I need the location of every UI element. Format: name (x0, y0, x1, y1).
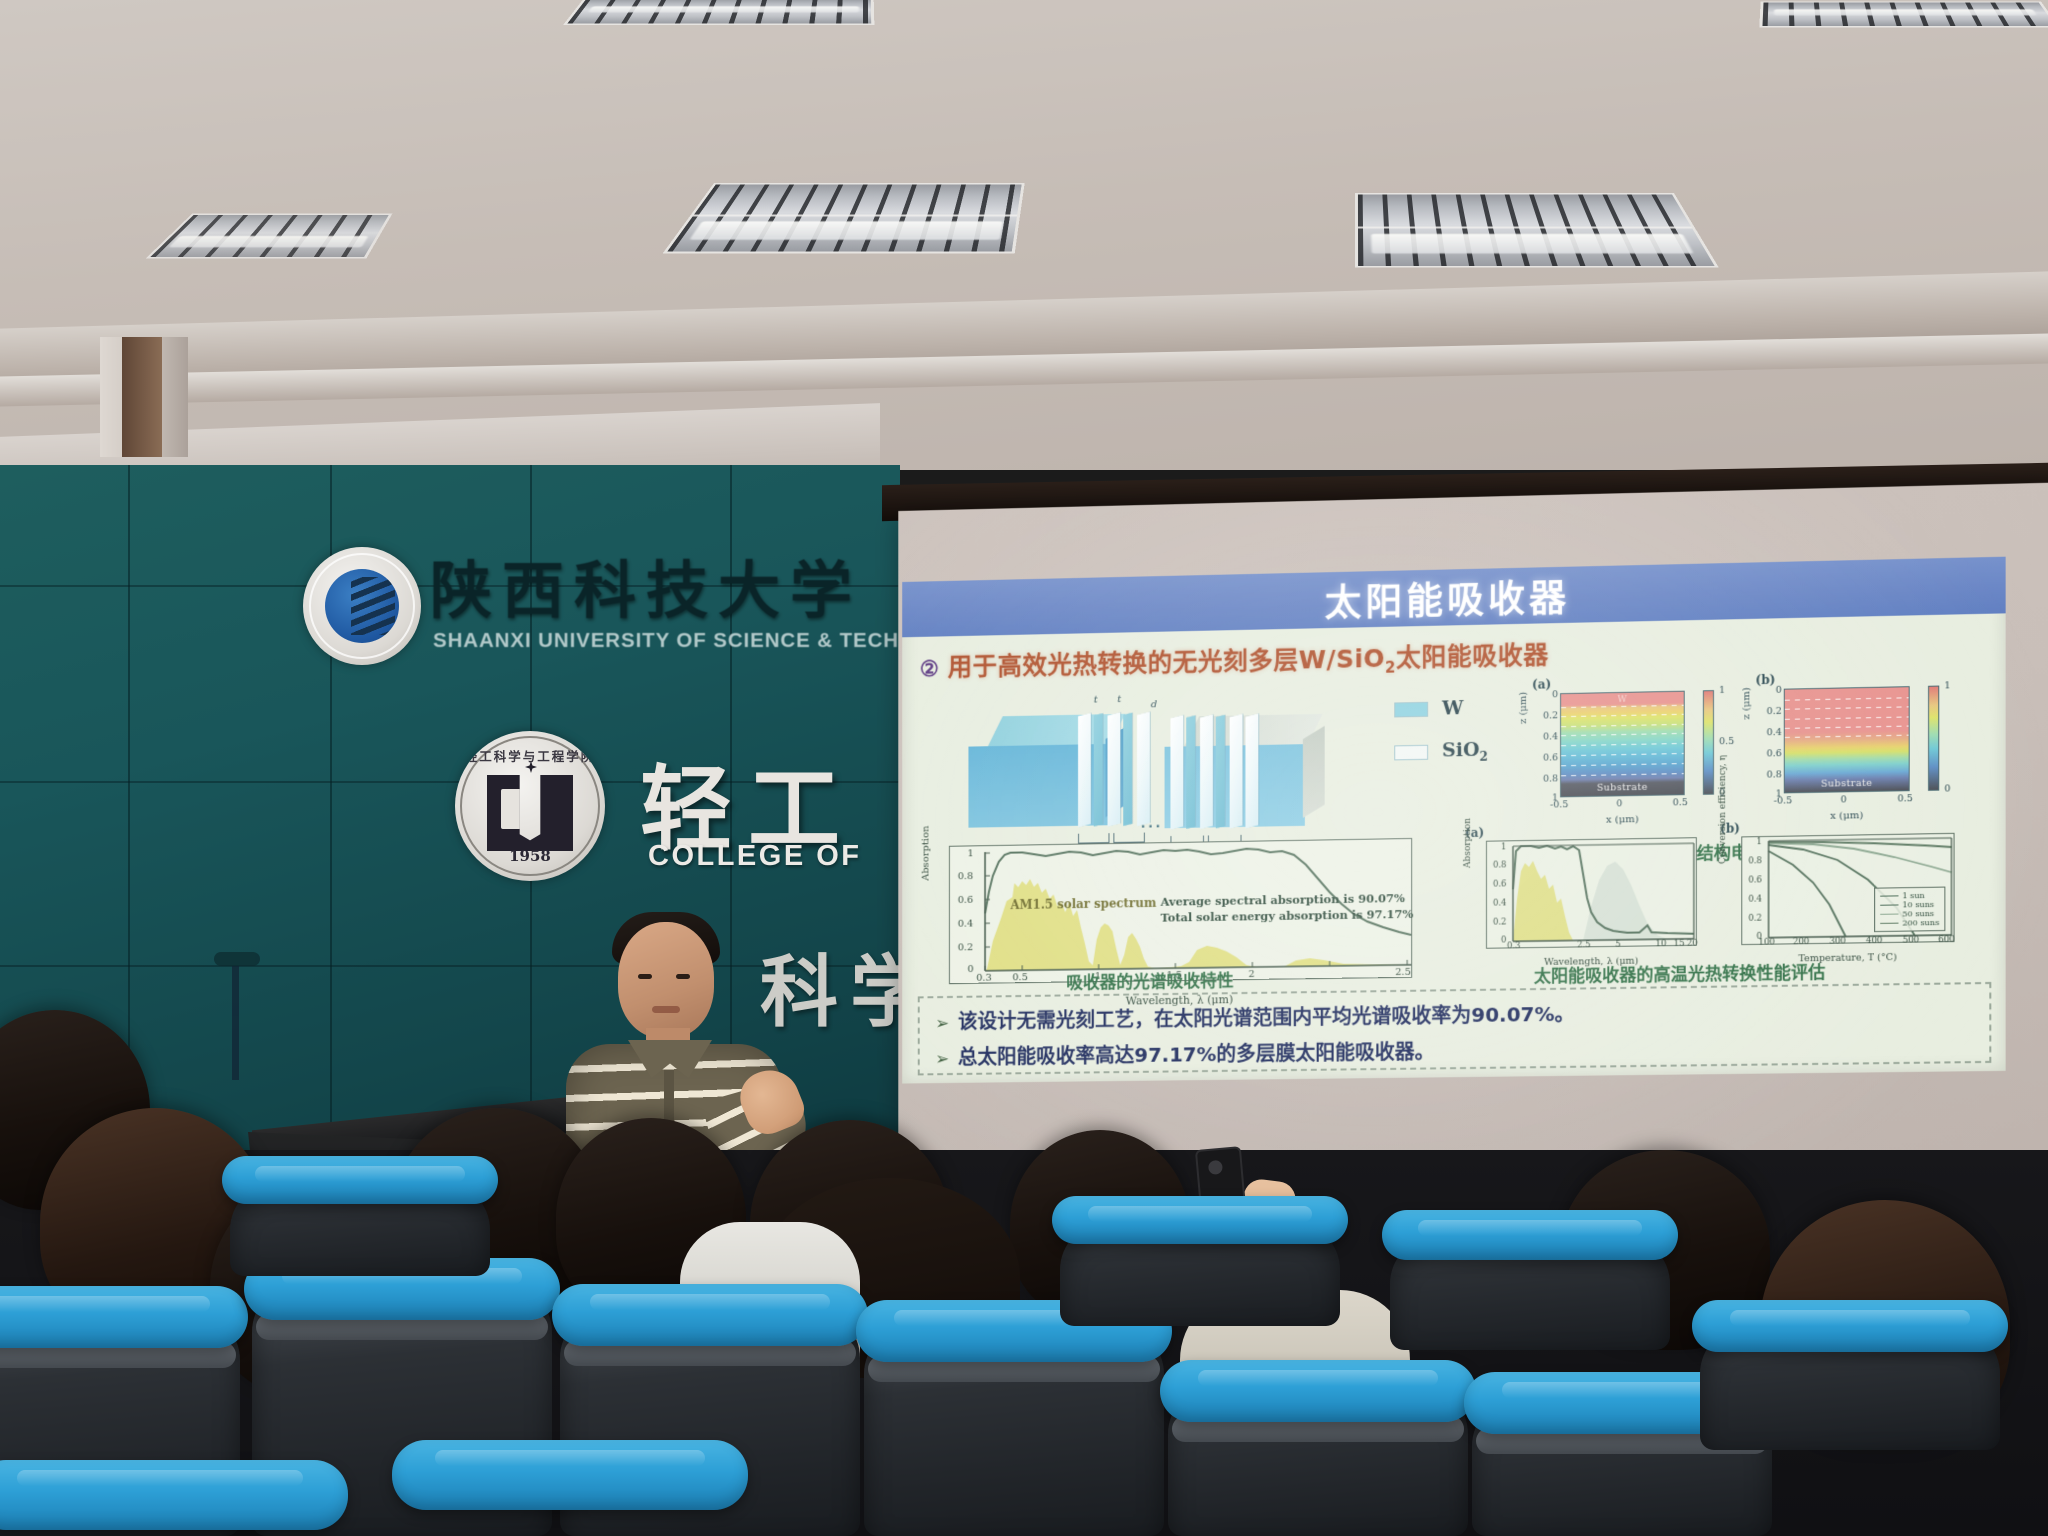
structure-label-d: d (1151, 699, 1157, 710)
broadband-ytick: 0.8 (1493, 860, 1507, 870)
ceiling-light-fixture-icon (663, 183, 1025, 253)
wall-column (100, 337, 188, 457)
heatmap-a-xtick: -0.5 (1550, 799, 1568, 810)
colorbar-max: 1 (1944, 680, 1950, 691)
absorption-spectrum-chart: Absorption 1 0.8 0.6 0.4 0.2 0 0.3 0.5 1… (949, 838, 1412, 984)
caption-performance-eval: 太阳能吸收器的高温光热转换性能评估 (1534, 958, 1825, 987)
auditorium-seat[interactable] (400, 1440, 740, 1536)
legend-label: 200 suns (1902, 918, 1939, 928)
heatmap-b-colorbar: 1 0 (1928, 686, 1939, 791)
legend-label: 1 sun (1902, 891, 1924, 900)
college-name-en: COLLEGE OF (648, 840, 862, 873)
conclusion-box: ➢ 该设计无需光刻工艺，在太阳光谱范围内平均光谱吸收率为90.07%。 ➢ 总太… (918, 982, 1992, 1075)
absorption-chart-ytick: 0 (967, 964, 973, 975)
material-legend: W SiO2 (1394, 697, 1488, 786)
conclusion-bullet-2: ➢ 总太阳能吸收率高达97.17%的多层膜太阳能吸收器。 (935, 1035, 1434, 1070)
broadband-ytick: 0.2 (1493, 917, 1507, 927)
efficiency-xtick: 600 (1938, 935, 1955, 945)
absorption-chart-xtick: 0.3 (976, 973, 992, 984)
broadband-ytick: 0.6 (1493, 879, 1507, 889)
structure-label-t1: t (1094, 695, 1098, 706)
auditorium-seat[interactable] (864, 1300, 1164, 1536)
heatmap-b-ylabel: z (μm) (1741, 687, 1752, 720)
heatmap-b-ytick: 0 (1759, 685, 1781, 697)
absorption-chart-xtick: 2 (1248, 969, 1254, 980)
colorbar-min: 0 (1944, 783, 1950, 794)
legend-label-w: W (1442, 697, 1463, 719)
heatmap-b-ytick: 0.6 (1759, 748, 1781, 759)
auditorium-seat[interactable] (230, 1156, 490, 1276)
auditorium-seat[interactable] (1168, 1360, 1468, 1536)
auditorium-seat[interactable] (1390, 1210, 1670, 1350)
absorption-chart-ylabel: Absorption (921, 826, 932, 881)
efficiency-xtick: 400 (1866, 936, 1883, 946)
am15-annotation: AM1.5 solar spectrum (1010, 895, 1156, 913)
heatmap-b-xtick: 0 (1841, 794, 1847, 805)
ceiling-light-fixture-icon (563, 0, 874, 25)
heatmap-a-ytick: 0.6 (1536, 752, 1558, 763)
broadband-ytick: 0.4 (1493, 898, 1507, 908)
conclusion-text-2: 总太阳能吸收率高达97.17%的多层膜太阳能吸收器。 (958, 1035, 1435, 1070)
heatmap-b-xlabel: x (μm) (1784, 809, 1910, 822)
heatmap-b-ytick: 0.4 (1759, 727, 1781, 739)
structure-label-t2: t (1117, 694, 1121, 705)
efficiency-xtick: 300 (1829, 937, 1845, 947)
legend-label-sio2-sub: 2 (1479, 749, 1487, 763)
broadband-xtick: 0.3 (1507, 941, 1521, 951)
college-seal-label: 轻工科学与工程学院 (455, 746, 605, 765)
absorption-chart-ytick: 0.4 (958, 919, 974, 930)
conversion-efficiency-chart: (b) Conversion efficiency, η 1 0.8 0.6 0… (1741, 833, 1954, 945)
legend-label-sio2: SiO (1442, 739, 1479, 762)
heatmap-a-xtick: 0.5 (1673, 797, 1688, 808)
university-seal-icon (303, 547, 421, 665)
presenter-mouth (652, 1006, 680, 1013)
heatmap-a-substrate-label: Substrate (1561, 781, 1684, 794)
efficiency-ylabel: Conversion efficiency, η (1718, 755, 1728, 864)
broadband-ytick: 0 (1501, 935, 1506, 945)
slide-title-bar: 太阳能吸收器 (902, 557, 2005, 638)
efficiency-xtick: 200 (1793, 937, 1809, 947)
college-seal-year: 1958 (455, 847, 605, 865)
legend-item-w: W (1394, 697, 1488, 721)
broadband-xtick: 20 (1687, 939, 1698, 949)
efficiency-ytick: 0.2 (1748, 914, 1762, 924)
legend-label: 50 suns (1902, 909, 1934, 919)
efficiency-ytick: 1 (1756, 837, 1761, 847)
broadband-ytick: 1 (1501, 842, 1506, 852)
heatmap-a-top-label: W (1561, 694, 1684, 706)
heatmap-a-colorbar: 1 0.5 0 (1703, 690, 1714, 795)
colorbar-max: 1 (1719, 685, 1725, 696)
heatmap-b-ytick: 0.2 (1759, 706, 1781, 718)
heatmap-a-ytick: 0.4 (1536, 731, 1558, 742)
legend-swatch-sio2 (1394, 745, 1428, 761)
broadband-xtick: 15 (1674, 939, 1685, 949)
heatmap-a-field: W Substrate (1560, 691, 1685, 798)
absorption-chart-xtick: 2.5 (1395, 967, 1411, 978)
heatmap-a-ytick: 0 (1536, 689, 1558, 700)
heatmap-b-xtick: 0.5 (1897, 793, 1912, 804)
broadband-absorption-chart: (a) Absorption 1 0.8 0.6 0.4 0.2 0 0.3 (1486, 837, 1697, 949)
legend-swatch-w (1394, 701, 1428, 717)
conclusion-text-1: 该设计无需光刻工艺，在太阳光谱范围内平均光谱吸收率为90.07%。 (958, 998, 1575, 1035)
heatmap-a-ylabel: z (μm) (1518, 692, 1529, 724)
heatmap-a-ytick: 0.8 (1536, 773, 1558, 784)
caption-absorption-spectrum: 吸收器的光谱吸收特性 (1066, 966, 1233, 993)
efficiency-ytick: 0.6 (1748, 875, 1762, 885)
heatmap-b-field: Substrate (1784, 686, 1910, 793)
heatmap-a-ytick: 0.2 (1536, 710, 1558, 721)
absorption-chart-ytick: 1 (967, 848, 973, 859)
slide-subtitle: ② 用于高效光热转换的无光刻多层W/SiO2太阳能吸收器 (920, 635, 1549, 686)
efficiency-xtick: 500 (1903, 935, 1920, 945)
absorption-chart-ytick: 0.6 (958, 895, 974, 906)
absorption-chart-ytick: 0.8 (958, 871, 974, 882)
heatmap-panel-a: (a) z (μm) 0 0.2 0.4 0.6 0.8 1 W Substra… (1534, 690, 1705, 828)
efficiency-ytick: 0.4 (1748, 894, 1762, 904)
absorption-chart-ytick: 0.2 (958, 942, 974, 953)
heatmap-b-ytick: 0.8 (1759, 769, 1781, 780)
ceiling-light-fixture-icon (1759, 1, 2048, 27)
lecture-hall-photo: 陕西科技大学 SHAANXI UNIVERSITY OF SCIENCE & T… (0, 0, 2048, 1536)
heatmap-a-xtick: 0 (1616, 798, 1622, 809)
slide-subtitle-tail: 太阳能吸收器 (1396, 640, 1549, 672)
efficiency-ytick: 0.8 (1748, 856, 1762, 866)
heatmap-b-substrate-label: Substrate (1785, 777, 1909, 790)
slide-subtitle-subscript: 2 (1385, 659, 1396, 677)
legend-label: 10 suns (1902, 900, 1934, 910)
presenter-head (618, 922, 714, 1038)
ceiling-light-fixture-icon (1355, 193, 1719, 268)
university-name-cn: 陕西科技大学 (430, 540, 862, 630)
heatmap-panel-b: (b) z (μm) 0 0.2 0.4 0.6 0.8 1 Substrate… (1757, 686, 1930, 824)
heatmap-b-xtick: -0.5 (1774, 795, 1793, 806)
auditorium-seat[interactable] (1060, 1196, 1340, 1326)
efficiency-xtick: 100 (1758, 938, 1774, 948)
slide-subtitle-number: ② (920, 656, 939, 682)
bullet-arrow-icon: ➢ (935, 1014, 949, 1034)
broadband-xtick: 5 (1615, 940, 1620, 950)
conclusion-bullet-1: ➢ 该设计无需光刻工艺，在太阳光谱范围内平均光谱吸收率为90.07%。 (935, 998, 1574, 1035)
bullet-arrow-icon: ➢ (935, 1049, 949, 1069)
absorption-chart-xtick: 0.5 (1012, 972, 1028, 983)
efficiency-legend: 1 sun 10 suns 50 suns 200 suns (1874, 887, 1946, 933)
broadband-xtick: 10 (1656, 939, 1667, 949)
slide-title: 太阳能吸收器 (1325, 568, 1570, 627)
colorbar-mid: 0.5 (1719, 736, 1734, 747)
broadband-ylabel: Absorption (1463, 818, 1473, 868)
legend-item-200suns: 200 suns (1880, 918, 1939, 928)
slide-subtitle-text: 用于高效光热转换的无光刻多层W/SiO (948, 644, 1385, 682)
microphone-stand-icon (232, 960, 239, 1080)
heatmap-a-xlabel: x (μm) (1560, 813, 1685, 826)
auditorium-seat[interactable] (1700, 1300, 2000, 1450)
presentation-slide: 太阳能吸收器 ② 用于高效光热转换的无光刻多层W/SiO2太阳能吸收器 (902, 557, 2005, 1084)
auditorium-seat[interactable] (0, 1460, 340, 1536)
legend-item-sio2: SiO2 (1394, 739, 1488, 766)
college-seal-icon: 轻工科学与工程学院 1958 (455, 731, 605, 881)
broadband-xtick: 2.5 (1577, 940, 1591, 950)
structure-ellipsis: ... (1141, 814, 1163, 832)
